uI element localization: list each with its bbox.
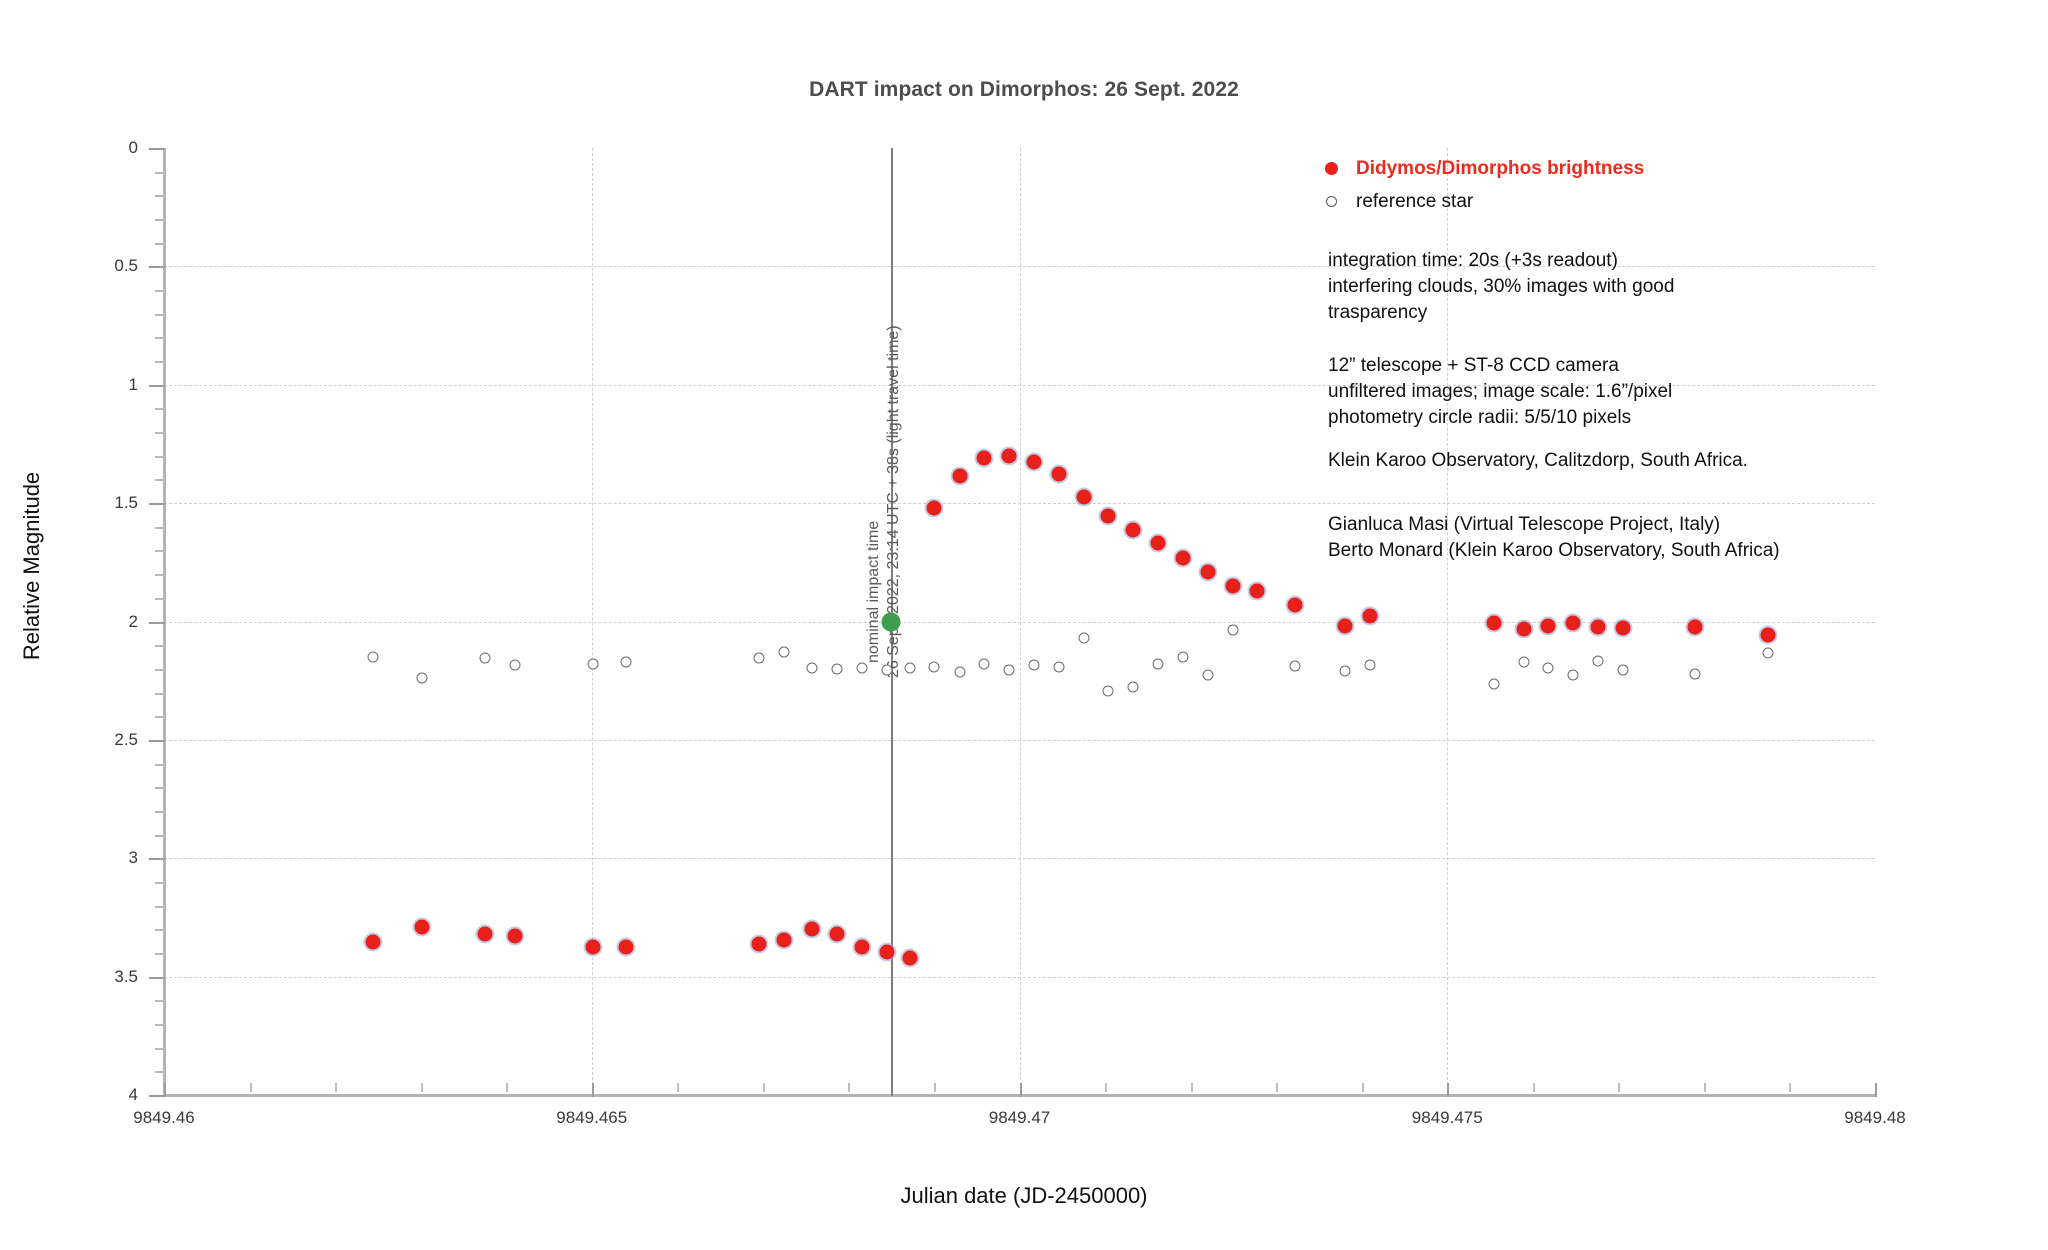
y-axis-minor-tick [155, 929, 165, 931]
y-axis-tick [149, 740, 165, 742]
data-point-target [1615, 620, 1630, 635]
data-point-reference [1568, 670, 1579, 681]
y-axis-minor-tick [155, 953, 165, 955]
data-point-target [1590, 620, 1605, 635]
note-line: Gianluca Masi (Virtual Telescope Project… [1328, 512, 1780, 538]
legend-label-target: Didymos/Dimorphos brightness [1356, 158, 1644, 180]
data-point-target [855, 940, 870, 955]
note-line: interfering clouds, 30% images with good [1328, 274, 1674, 300]
y-axis-minor-tick [155, 787, 165, 789]
y-axis-tick [149, 977, 165, 979]
y-axis-minor-tick [155, 906, 165, 908]
data-point-reference [1078, 632, 1089, 643]
note-line: Klein Karoo Observatory, Calitzdorp, Sou… [1328, 448, 1748, 474]
x-axis-tick [592, 1083, 594, 1097]
x-axis-tick [1447, 1083, 1449, 1097]
y-axis-minor-tick [155, 172, 165, 174]
data-point-reference [1519, 656, 1530, 667]
data-point-reference [1289, 661, 1300, 672]
data-point-target [1541, 619, 1556, 634]
data-point-reference [588, 658, 599, 669]
data-point-target [1151, 536, 1166, 551]
data-point-reference [857, 663, 868, 674]
x-axis-minor-tick [1105, 1083, 1107, 1092]
data-point-reference [417, 673, 428, 684]
y-axis-tick [149, 1095, 165, 1097]
x-axis-title: Julian date (JD-2450000) [0, 1183, 2048, 1209]
data-point-target [1101, 508, 1116, 523]
note-observatory: Klein Karoo Observatory, Calitzdorp, Sou… [1328, 448, 1748, 474]
y-axis-minor-tick [155, 527, 165, 529]
data-point-reference [979, 658, 990, 669]
y-axis-tick-label: 1.5 [114, 493, 138, 513]
y-axis-tick [149, 148, 165, 150]
data-point-reference [1690, 669, 1701, 680]
x-axis-minor-tick [250, 1083, 252, 1092]
note-line: Berto Monard (Klein Karoo Observatory, S… [1328, 538, 1780, 564]
data-point-reference [1029, 659, 1040, 670]
note-line: photometry circle radii: 5/5/10 pixels [1328, 405, 1672, 431]
y-axis-tick-label: 2.5 [114, 730, 138, 750]
y-axis-tick-label: 4 [129, 1085, 138, 1105]
x-axis-tick [164, 1083, 166, 1097]
x-axis-tick [1020, 1083, 1022, 1097]
data-point-target [902, 950, 917, 965]
note-line: unfiltered images; image scale: 1.6”/pix… [1328, 379, 1672, 405]
data-point-reference [806, 662, 817, 673]
x-axis-minor-tick [1276, 1083, 1278, 1092]
data-point-reference [832, 663, 843, 674]
data-point-target [1175, 550, 1190, 565]
data-point-target [1200, 564, 1215, 579]
x-axis-minor-tick [848, 1083, 850, 1092]
x-axis-minor-tick [1789, 1083, 1791, 1092]
note-observing-conditions: integration time: 20s (+3s readout) inte… [1328, 248, 1674, 326]
data-point-target [1761, 627, 1776, 642]
data-point-reference [620, 657, 631, 668]
data-point-reference [1617, 665, 1628, 676]
data-point-target [1250, 583, 1265, 598]
data-point-target [1688, 620, 1703, 635]
legend: Didymos/Dimorphos brightness reference s… [1318, 155, 1958, 221]
y-axis-tick-label: 3.5 [114, 967, 138, 987]
data-point-reference [954, 667, 965, 678]
note-line: integration time: 20s (+3s readout) [1328, 248, 1674, 274]
data-point-target [365, 935, 380, 950]
y-axis-tick-label: 2 [129, 612, 138, 632]
x-axis-tick-label: 9849.46 [133, 1108, 194, 1128]
y-axis-minor-tick [155, 598, 165, 600]
data-point-reference [928, 661, 939, 672]
data-point-target [1225, 578, 1240, 593]
data-point-reference [1365, 660, 1376, 671]
note-authors: Gianluca Masi (Virtual Telescope Project… [1328, 512, 1780, 564]
x-axis-tick [1875, 1083, 1877, 1097]
data-point-reference [753, 652, 764, 663]
data-point-target [926, 501, 941, 516]
x-axis-minor-tick [1362, 1083, 1364, 1092]
y-axis-minor-tick [155, 550, 165, 552]
y-axis-minor-tick [155, 479, 165, 481]
data-point-target [751, 936, 766, 951]
data-point-reference [1592, 655, 1603, 666]
data-point-target [777, 932, 792, 947]
data-point-reference [1202, 669, 1213, 680]
data-point-reference [1339, 666, 1350, 677]
y-axis-minor-tick [155, 574, 165, 576]
open-circle-icon [1318, 196, 1344, 207]
data-point-reference [1227, 624, 1238, 635]
y-axis-tick-label: 1 [129, 375, 138, 395]
y-axis-minor-tick [155, 456, 165, 458]
y-axis-tick [149, 622, 165, 624]
impact-label-line1: nominal impact time [865, 521, 883, 663]
note-line: trasparency [1328, 300, 1674, 326]
y-axis-minor-tick [155, 693, 165, 695]
x-axis-tick-label: 9849.465 [556, 1108, 627, 1128]
data-point-reference [1103, 686, 1114, 697]
data-point-target [1517, 621, 1532, 636]
y-axis-tick [149, 858, 165, 860]
x-axis-minor-tick [1191, 1083, 1193, 1092]
x-axis-tick-label: 9849.475 [1412, 1108, 1483, 1128]
data-point-target [1566, 616, 1581, 631]
data-point-reference [1153, 658, 1164, 669]
gridline-horizontal [164, 977, 1875, 978]
y-axis-minor-tick [155, 1024, 165, 1026]
data-point-target [1076, 489, 1091, 504]
data-point-target [1287, 597, 1302, 612]
y-axis-minor-tick [155, 645, 165, 647]
data-point-target [830, 927, 845, 942]
y-axis-minor-tick [155, 811, 165, 813]
data-point-reference [1053, 661, 1064, 672]
y-axis-tick [149, 385, 165, 387]
data-point-target [507, 928, 522, 943]
data-point-reference [479, 653, 490, 664]
y-axis-tick [149, 266, 165, 268]
data-point-target [1126, 523, 1141, 538]
data-point-reference [1489, 678, 1500, 689]
chart-root: DART impact on Dimorphos: 26 Sept. 2022 … [0, 0, 2048, 1250]
data-point-target [1051, 466, 1066, 481]
data-point-target [879, 944, 894, 959]
x-axis-tick-label: 9849.47 [989, 1108, 1050, 1128]
x-axis-minor-tick [1618, 1083, 1620, 1092]
legend-item-target: Didymos/Dimorphos brightness [1318, 155, 1958, 182]
legend-label-reference: reference star [1356, 191, 1473, 213]
data-point-target [1487, 615, 1502, 630]
y-axis-minor-tick [155, 835, 165, 837]
y-axis-minor-tick [155, 408, 165, 410]
y-axis-minor-tick [155, 764, 165, 766]
data-point-target [477, 927, 492, 942]
x-axis-minor-tick [677, 1083, 679, 1092]
filled-dot-icon [1318, 162, 1344, 175]
x-axis-minor-tick [335, 1083, 337, 1092]
data-point-reference [509, 660, 520, 671]
note-line: 12” telescope + ST-8 CCD camera [1328, 353, 1672, 379]
data-point-target [977, 451, 992, 466]
y-axis-minor-tick [155, 195, 165, 197]
legend-item-reference: reference star [1318, 188, 1958, 215]
gridline-vertical [1020, 148, 1021, 1095]
y-axis-minor-tick [155, 882, 165, 884]
y-axis-tick-label: 0 [129, 138, 138, 158]
y-axis-minor-tick [155, 1000, 165, 1002]
page-title: DART impact on Dimorphos: 26 Sept. 2022 [0, 78, 2048, 102]
x-axis-minor-tick [763, 1083, 765, 1092]
x-axis-tick-label: 9849.48 [1844, 1108, 1905, 1128]
data-point-target [618, 940, 633, 955]
y-axis-minor-tick [155, 337, 165, 339]
y-axis-minor-tick [155, 716, 165, 718]
data-point-reference [779, 646, 790, 657]
data-point-reference [904, 663, 915, 674]
y-axis-minor-tick [155, 290, 165, 292]
data-point-target [1027, 454, 1042, 469]
data-point-target [804, 922, 819, 937]
y-axis-title: Relative Magnitude [19, 266, 45, 866]
y-axis-minor-tick [155, 1071, 165, 1073]
y-axis-minor-tick [155, 314, 165, 316]
data-point-target [586, 940, 601, 955]
y-axis-tick-label: 3 [129, 848, 138, 868]
gridline-horizontal [164, 858, 1875, 859]
y-axis-minor-tick [155, 219, 165, 221]
note-equipment: 12” telescope + ST-8 CCD camera unfilter… [1328, 353, 1672, 431]
data-point-target [1363, 608, 1378, 623]
data-point-target [415, 919, 430, 934]
data-point-reference [1004, 665, 1015, 676]
data-point-reference [1763, 648, 1774, 659]
x-axis-minor-tick [421, 1083, 423, 1092]
y-axis-minor-tick [155, 669, 165, 671]
y-axis-tick [149, 503, 165, 505]
data-point-target [1002, 448, 1017, 463]
x-axis-minor-tick [934, 1083, 936, 1092]
data-point-reference [1177, 652, 1188, 663]
x-axis-minor-tick [1704, 1083, 1706, 1092]
x-axis-minor-tick [506, 1083, 508, 1092]
data-point-reference [881, 665, 892, 676]
x-axis-minor-tick [1533, 1083, 1535, 1092]
y-axis-minor-tick [155, 1048, 165, 1050]
y-axis-minor-tick [155, 432, 165, 434]
data-point-reference [1128, 682, 1139, 693]
gridline-horizontal [164, 740, 1875, 741]
y-axis-minor-tick [155, 361, 165, 363]
data-point-reference [1543, 663, 1554, 674]
impact-marker-dot [882, 612, 901, 631]
y-axis-tick-label: 0.5 [114, 256, 138, 276]
data-point-target [952, 468, 967, 483]
y-axis-minor-tick [155, 243, 165, 245]
data-point-reference [367, 652, 378, 663]
data-point-target [1337, 619, 1352, 634]
gridline-horizontal [164, 503, 1875, 504]
